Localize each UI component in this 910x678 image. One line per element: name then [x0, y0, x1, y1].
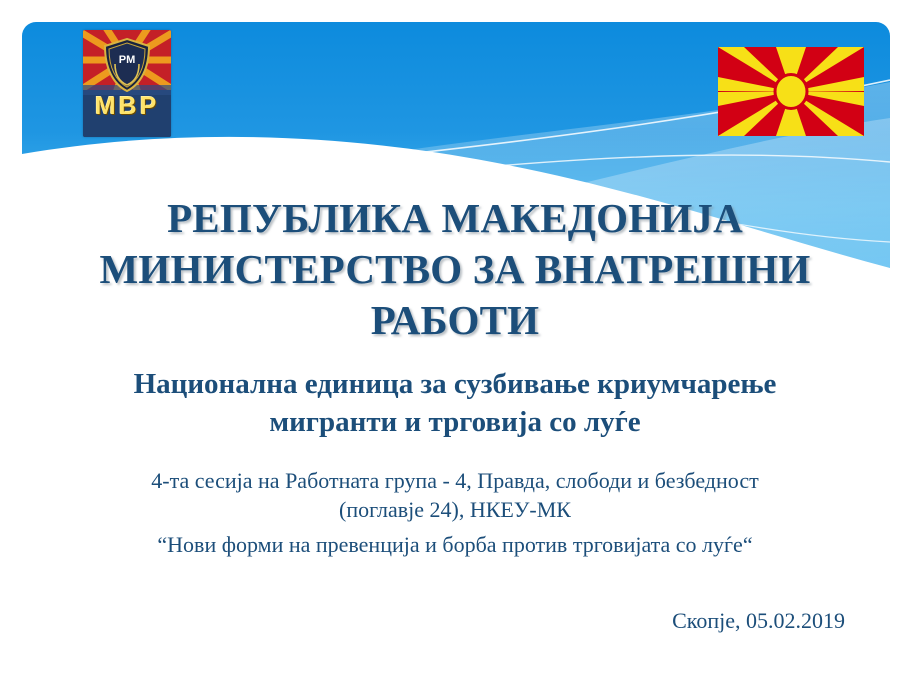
subtitle-line-2: мигранти и трговија со луѓе: [55, 403, 855, 441]
session-line-1: 4-та сесија на Работната група - 4, Прав…: [55, 466, 855, 495]
page-subtitle: Национална единица за сузбивање криумчар…: [55, 365, 855, 441]
title-line-2: МИНИСТЕРСТВО ЗА ВНАТРЕШНИ: [55, 244, 855, 295]
session-line-2: (поглавје 24), НКЕУ-МК: [55, 495, 855, 524]
police-shield-icon: PM: [103, 38, 151, 92]
subtitle-line-1: Национална единица за сузбивање криумчар…: [55, 365, 855, 403]
title-line-3: РАБОТИ: [55, 295, 855, 346]
title-line-1: РЕПУБЛИКА МАКЕДОНИЈА: [55, 193, 855, 244]
page-title: РЕПУБЛИКА МАКЕДОНИЈА МИНИСТЕРСТВО ЗА ВНА…: [55, 193, 855, 346]
mvr-emblem-logo: PM МВР: [83, 30, 171, 137]
macedonia-flag: [718, 47, 864, 136]
theme-line-1: “Нови форми на превенција и борба против…: [55, 530, 855, 559]
presentation-theme: “Нови форми на превенција и борба против…: [55, 530, 855, 559]
place-and-date: Скопје, 05.02.2019: [55, 606, 845, 635]
logo-acronym-label: МВР: [83, 92, 171, 121]
presentation-slide: PM МВР: [0, 0, 910, 678]
shield-label: PM: [119, 54, 136, 66]
flag-svg: [718, 47, 864, 136]
session-info: 4-та сесија на Работната група - 4, Прав…: [55, 466, 855, 524]
shield-svg: PM: [103, 38, 151, 92]
